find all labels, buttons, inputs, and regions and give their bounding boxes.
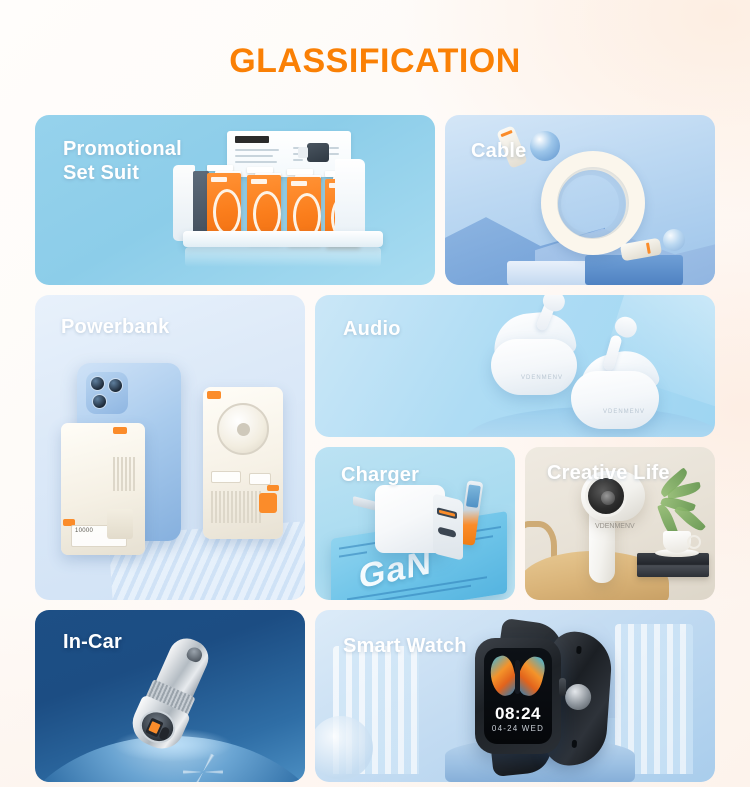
power-bank-back — [203, 387, 283, 539]
power-bank-front: 10000 — [61, 423, 145, 555]
powerbank-capacity: 10000 — [75, 528, 93, 534]
category-card-promotional-set-suit[interactable]: Promotional Set Suit — [35, 115, 435, 285]
category-card-audio[interactable]: VDENMENV VDENMENV Audio — [315, 295, 715, 437]
watch-date: 04-24 WED — [484, 724, 552, 733]
category-label-promotional-set-suit: Promotional Set Suit — [63, 137, 182, 186]
category-label-smart-watch: Smart Watch — [343, 634, 467, 658]
page-title: GLASSIFICATION — [0, 42, 750, 81]
category-label-in-car: In-Car — [63, 630, 122, 654]
usb-c-port — [438, 527, 456, 538]
watch-screen: 08:24 04-24 WED — [484, 648, 552, 744]
watch-case: 08:24 04-24 WED — [475, 638, 561, 754]
butterfly-wallpaper — [490, 654, 546, 700]
coffee-cup — [663, 531, 691, 553]
category-card-charger[interactable]: GaN Charger — [315, 447, 515, 600]
category-card-smart-watch[interactable]: 08:24 04-24 WED Smart Watch — [315, 610, 715, 782]
watch-buckle — [564, 683, 592, 711]
usb-a-port — [437, 507, 457, 519]
category-label-audio: Audio — [343, 317, 401, 341]
powerbank-product-art: 10000 — [35, 295, 305, 600]
category-card-powerbank[interactable]: 10000 Powerbank — [35, 295, 305, 600]
watch-time: 08:24 — [484, 704, 552, 724]
category-card-cable[interactable]: Cable — [445, 115, 715, 285]
category-label-charger: Charger — [341, 463, 419, 487]
category-card-in-car[interactable]: In-Car — [35, 610, 305, 782]
watch-crown — [559, 678, 566, 696]
category-grid: Promotional Set Suit Cable — [35, 115, 715, 775]
wall-plug-icon — [307, 143, 329, 162]
category-label-cable: Cable — [471, 139, 526, 163]
category-label-creative-life: Creative Life — [547, 461, 670, 485]
decorative-sphere — [663, 229, 685, 251]
decorative-sphere — [530, 131, 560, 161]
magsafe-coil — [217, 403, 269, 455]
category-label-powerbank: Powerbank — [61, 315, 170, 339]
category-card-creative-life[interactable]: VDENMENV Creative Life — [525, 447, 715, 600]
